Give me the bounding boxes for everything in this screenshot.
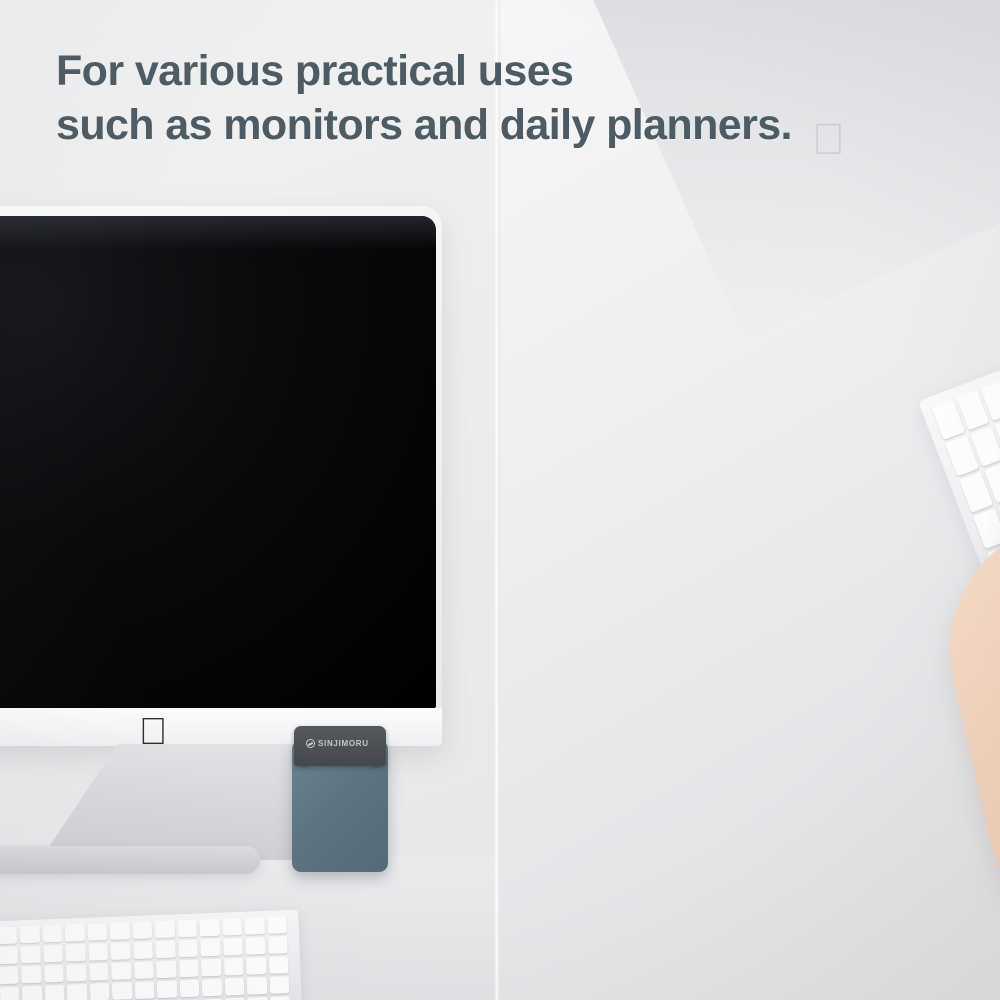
headline-line-1: For various practical uses: [56, 47, 573, 95]
imac-stand-foot: [0, 846, 260, 874]
apple-keyboard-left-scene: [0, 910, 302, 1000]
imac-screen: [0, 216, 436, 708]
brand-wordmark: SINJIMORU: [318, 739, 369, 748]
imac-bezel-gloss: [0, 216, 436, 250]
product-lifestyle-banner:  SINJIMORU: [0, 0, 1000, 1000]
headline-line-2: such as monitors and daily planners.: [56, 98, 792, 152]
apple-logo-icon: : [136, 712, 170, 752]
apple-logo-icon: : [812, 118, 845, 162]
imac-monitor: [0, 206, 442, 746]
page-title: For various practical usessuch as monito…: [56, 44, 792, 152]
keyboard-keys: [0, 916, 290, 1000]
brand-lockup: SINJIMORU: [306, 736, 376, 750]
sinjimoru-circle-logo-icon: [306, 739, 315, 748]
card-holder-product-on-monitor: SINJIMORU: [292, 712, 388, 872]
